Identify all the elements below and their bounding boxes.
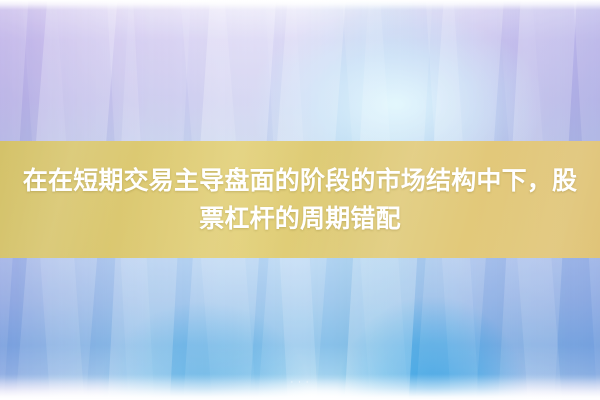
- watermark-text: · · ·: [0, 378, 600, 388]
- gold-title-band: [0, 141, 600, 258]
- article-banner-image: 在在短期交易主导盘面的阶段的市场结构中下，股票杠杆的周期错配 · · ·: [0, 0, 600, 400]
- top-white-fade: [0, 0, 600, 10]
- band-sheen-overlay: [0, 141, 600, 258]
